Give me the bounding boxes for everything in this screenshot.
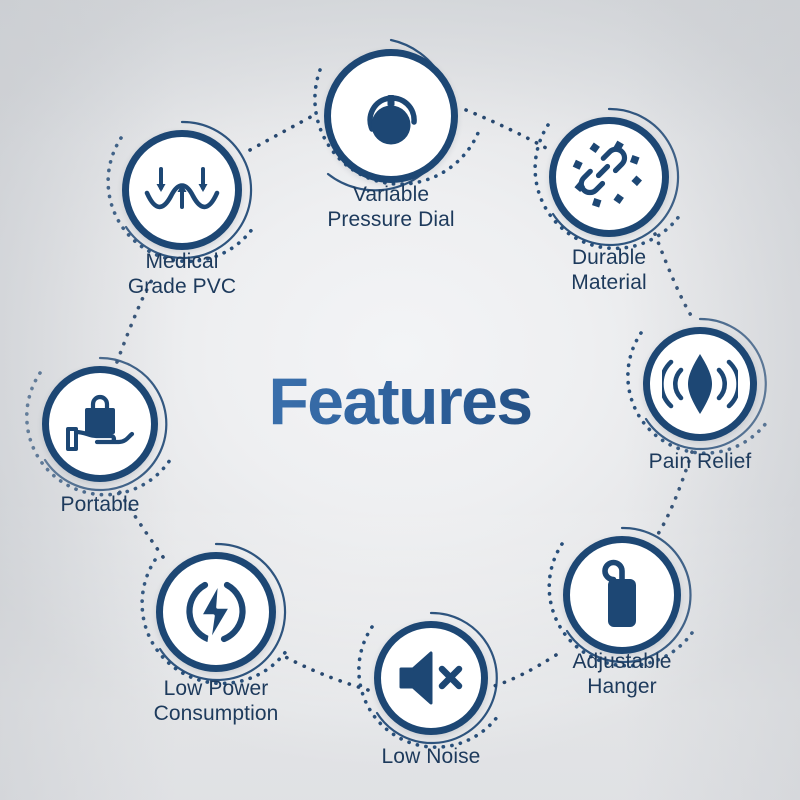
feature-label-low-power-consumption: Low Power Consumption xyxy=(86,677,346,726)
feature-badge-low-noise[interactable] xyxy=(374,621,488,735)
pain-relief-waves-icon xyxy=(650,334,750,434)
feature-badge-durable-material[interactable] xyxy=(549,117,669,237)
feature-badge-adjustable-hanger[interactable] xyxy=(563,536,681,654)
feature-badge-variable-pressure-dial[interactable] xyxy=(324,49,458,183)
feature-label-low-noise: Low Noise xyxy=(316,745,546,770)
connector-dial-to-durable xyxy=(466,110,546,148)
feature-badge-pain-relief[interactable] xyxy=(643,327,757,441)
feature-badge-portable[interactable] xyxy=(42,366,158,482)
pressure-dial-icon xyxy=(331,56,451,176)
feature-label-variable-pressure-dial: Variable Pressure Dial xyxy=(261,183,521,232)
chain-link-icon xyxy=(556,124,662,230)
muted-speaker-icon xyxy=(381,628,481,728)
feature-label-adjustable-hanger: Adjustable Hanger xyxy=(507,650,737,699)
feature-badge-low-power-consumption[interactable] xyxy=(156,552,276,672)
feature-label-pain-relief: Pain Relief xyxy=(585,450,800,475)
door-hanger-icon xyxy=(570,543,674,647)
infographic-canvas: .thin-arc { fill:none; stroke:#1d4774; s… xyxy=(0,0,800,800)
feature-label-medical-grade-pvc: Medical Grade PVC xyxy=(62,250,302,299)
flexible-wave-icon xyxy=(129,137,235,243)
feature-label-durable-material: Durable Material xyxy=(494,246,724,295)
lightning-bolt-icon xyxy=(163,559,269,665)
connector-pvc-to-dial xyxy=(250,113,318,150)
hand-holding-bag-icon xyxy=(49,373,151,475)
feature-badge-medical-grade-pvc[interactable] xyxy=(122,130,242,250)
feature-label-portable: Portable xyxy=(0,493,210,518)
